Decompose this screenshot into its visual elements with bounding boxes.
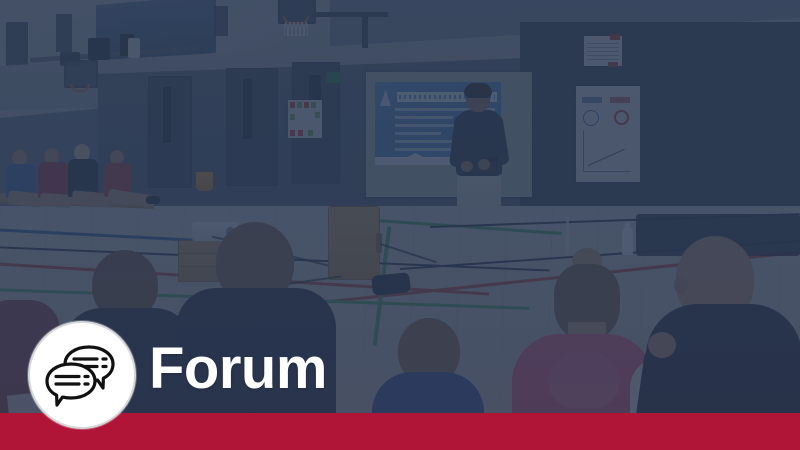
forum-banner: Forum bbox=[0, 0, 800, 450]
forum-badge bbox=[28, 321, 136, 429]
brand-bar bbox=[0, 413, 800, 450]
brand-wordmark: Forum bbox=[149, 340, 327, 398]
speech-bubbles-icon bbox=[45, 343, 119, 407]
